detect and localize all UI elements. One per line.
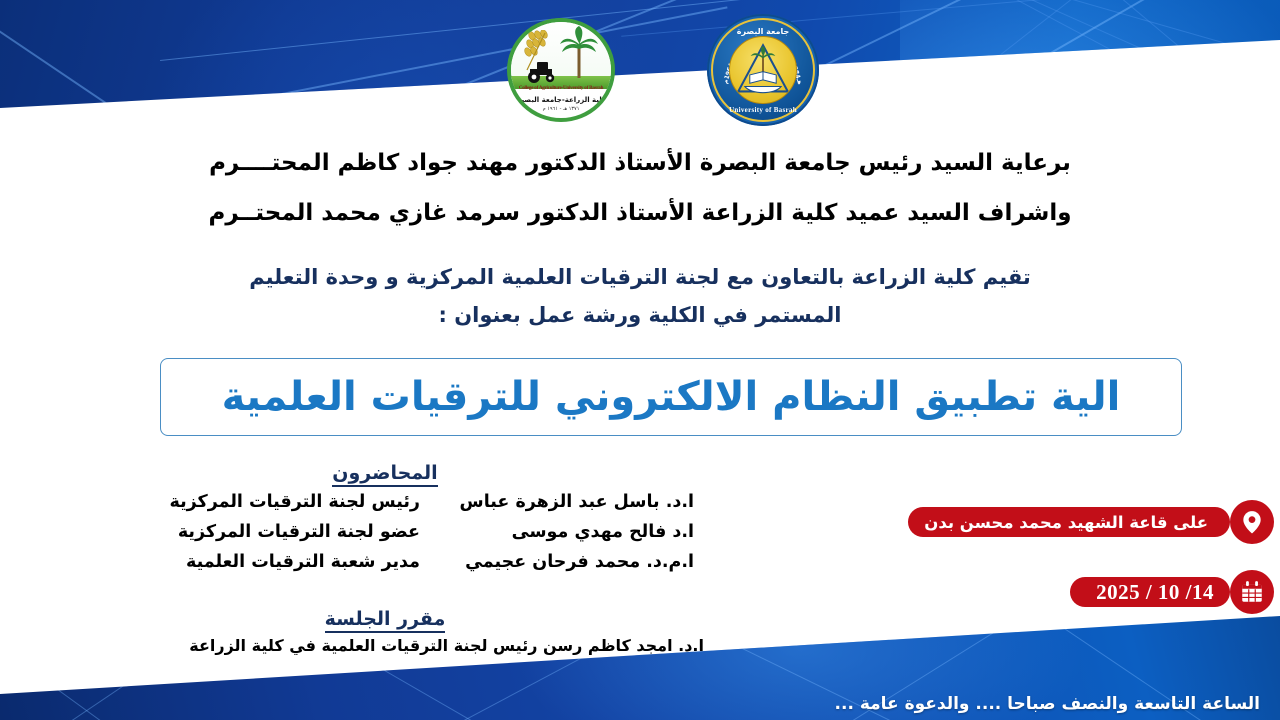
patronage-headlines: برعاية السيد رئيس جامعة البصرة الأستاذ ا… xyxy=(90,138,1190,238)
speaker-row: ا.م.د. محمد فرحان عجيمي مدير شعبة الترقي… xyxy=(60,547,710,577)
speaker-name: ا.م.د. محمد فرحان عجيمي xyxy=(420,547,710,577)
map-pin-glyph xyxy=(1239,509,1265,535)
intro-paragraph: تقيم كلية الزراعة بالتعاون مع لجنة الترق… xyxy=(100,258,1180,334)
intro-line-2: المستمر في الكلية ورشة عمل بعنوان : xyxy=(100,296,1180,334)
speakers-heading: المحاضرون xyxy=(60,462,710,484)
speakers-section: المحاضرون ا.د. باسل عبد الزهرة عباس رئيس… xyxy=(60,462,710,577)
rapporteur-heading-label: مقرر الجلسة xyxy=(325,608,446,633)
speaker-role: عضو لجنة الترقيات المركزية xyxy=(90,517,420,547)
intro-line-1: تقيم كلية الزراعة بالتعاون مع لجنة الترق… xyxy=(100,258,1180,296)
speaker-row: ا.د. باسل عبد الزهرة عباس رئيس لجنة التر… xyxy=(60,487,710,517)
seal-english-text: University of Basrah xyxy=(713,106,813,114)
speaker-role: مدير شعبة الترقيات العلمية xyxy=(90,547,420,577)
date-text: 2025 / 10 /14 xyxy=(1070,577,1230,607)
banner-line-pattern xyxy=(0,0,1280,130)
logo-english-text: College of Agriculture-University of Bas… xyxy=(511,86,611,92)
calendar-glyph xyxy=(1239,579,1265,605)
speaker-row: ا.د فالح مهدي موسى عضو لجنة الترقيات الم… xyxy=(60,517,710,547)
speakers-heading-label: المحاضرون xyxy=(332,462,437,487)
date-badge: 2025 / 10 /14 xyxy=(1070,570,1258,614)
footer-note: الساعة التاسعة والنصف صباحا .... والدعوة… xyxy=(835,694,1260,714)
top-decorative-banner xyxy=(0,0,1280,130)
headline-supervisor: واشراف السيد عميد كلية الزراعة الأستاذ ا… xyxy=(90,188,1190,238)
calendar-icon xyxy=(1230,570,1274,614)
rapporteur-section: مقرر الجلسة ا.د. امجد كاظم رسن رئيس لجنة… xyxy=(60,608,710,659)
speaker-role: رئيس لجنة الترقيات المركزية xyxy=(90,487,420,517)
rapporteur-name: ا.د. امجد كاظم رسن رئيس لجنة الترقيات ال… xyxy=(60,633,710,659)
venue-badge: على قاعة الشهيد محمد محسن بدن xyxy=(908,500,1258,544)
logo-year-text: ١٣٧١ هـ - ١٩٦١ م xyxy=(511,106,611,112)
workshop-title-box: الية تطبيق النظام الالكتروني للترقيات ال… xyxy=(160,358,1182,436)
speaker-name: ا.د. باسل عبد الزهرة عباس xyxy=(420,487,710,517)
workshop-title: الية تطبيق النظام الالكتروني للترقيات ال… xyxy=(222,370,1121,424)
speaker-name: ا.د فالح مهدي موسى xyxy=(420,517,710,547)
headline-patron: برعاية السيد رئيس جامعة البصرة الأستاذ ا… xyxy=(90,138,1190,188)
map-pin-icon xyxy=(1230,500,1274,544)
rapporteur-heading: مقرر الجلسة xyxy=(60,608,710,630)
venue-text: على قاعة الشهيد محمد محسن بدن xyxy=(908,507,1230,537)
logo-arabic-text: كلية الزراعة-جامعة البصرة xyxy=(511,96,611,104)
